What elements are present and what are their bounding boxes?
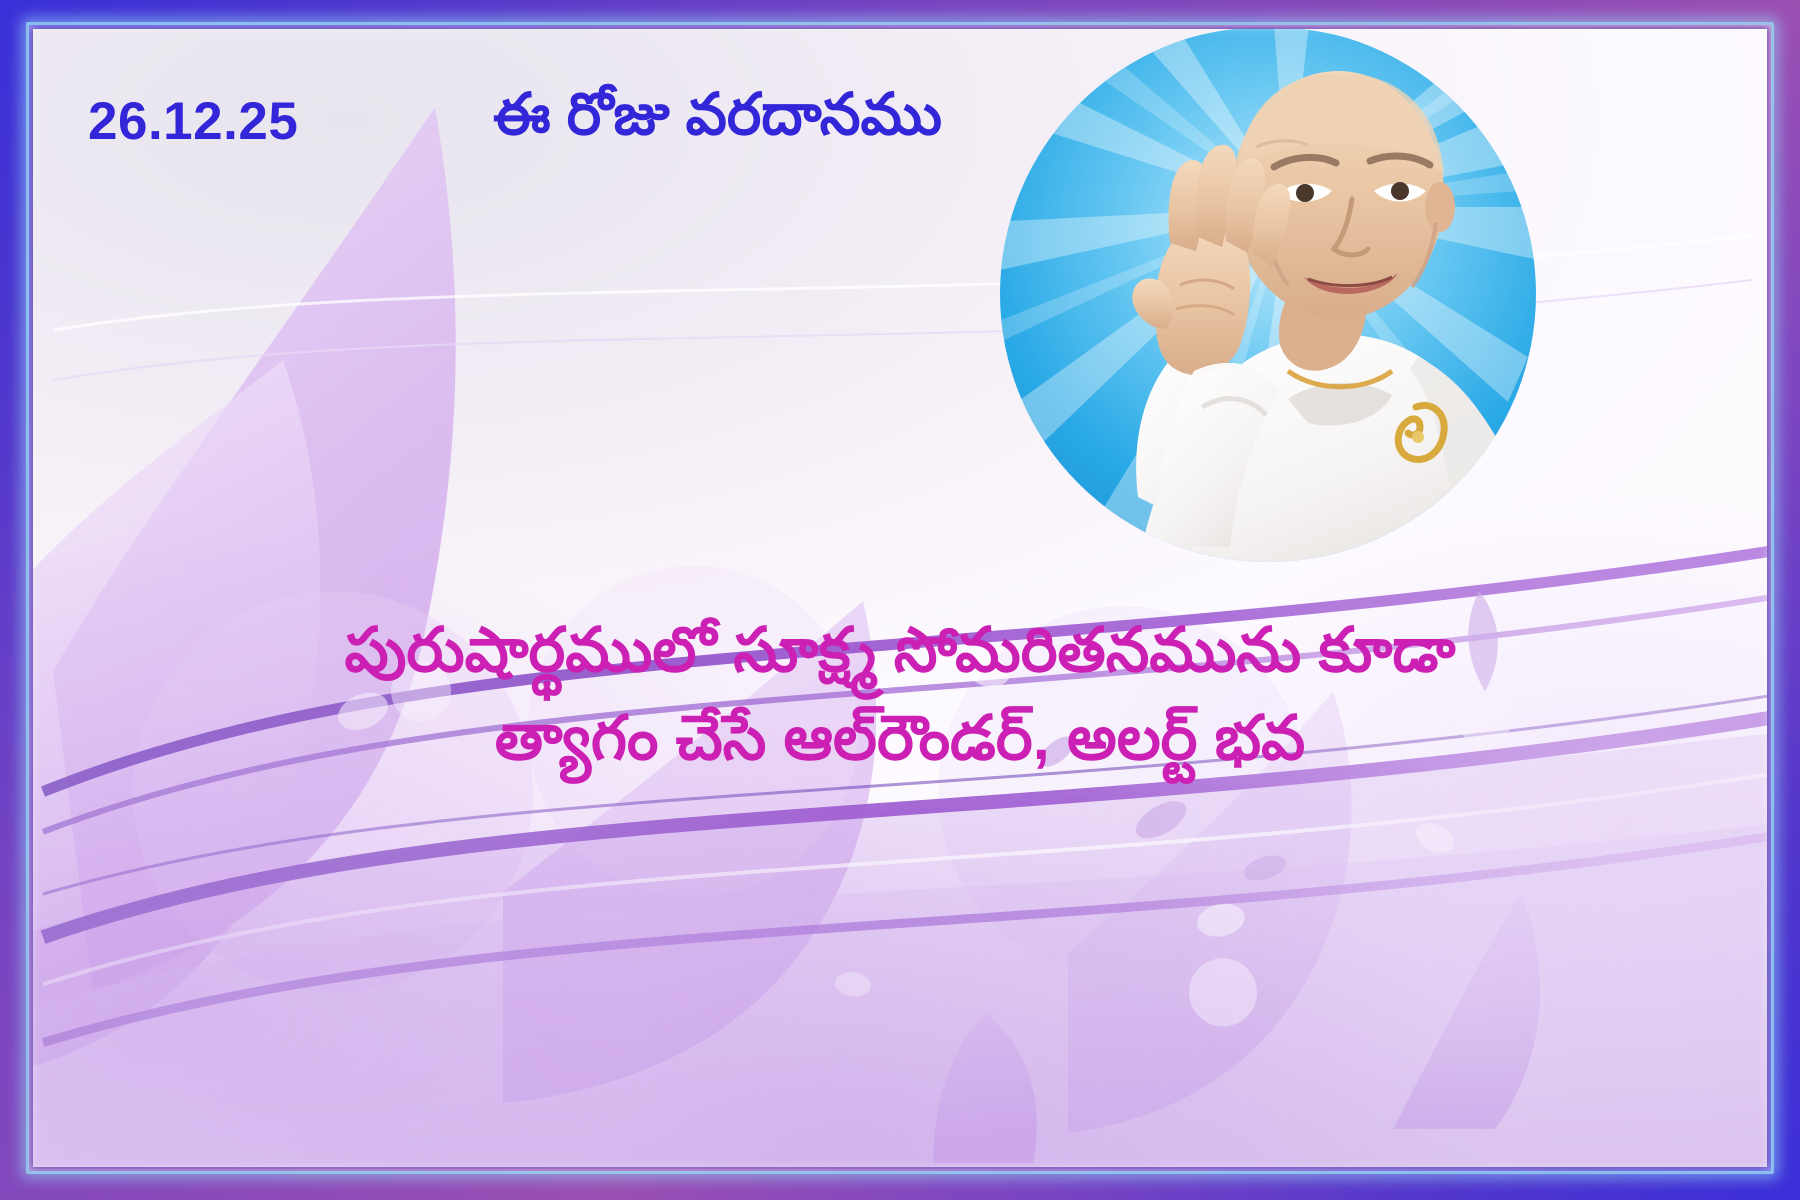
blessing-message: పురుషార్థములో సూక్ష్మ సోమరితనమును కూడా త… bbox=[93, 607, 1707, 783]
card-canvas: 26.12.25 ఈ రోజు వరదానము bbox=[33, 29, 1767, 1167]
message-line-2: త్యాగం చేసే ఆల్‌రౌండర్, అలర్ట్ భవ bbox=[93, 695, 1707, 783]
date-label: 26.12.25 bbox=[88, 91, 298, 152]
message-line-1: పురుషార్థములో సూక్ష్మ సోమరితనమును కూడా bbox=[93, 607, 1707, 695]
page-title: ఈ రోజు వరదానము bbox=[493, 81, 942, 163]
blessing-card: 26.12.25 ఈ రోజు వరదానము bbox=[0, 0, 1800, 1200]
portrait-photo bbox=[988, 29, 1548, 562]
